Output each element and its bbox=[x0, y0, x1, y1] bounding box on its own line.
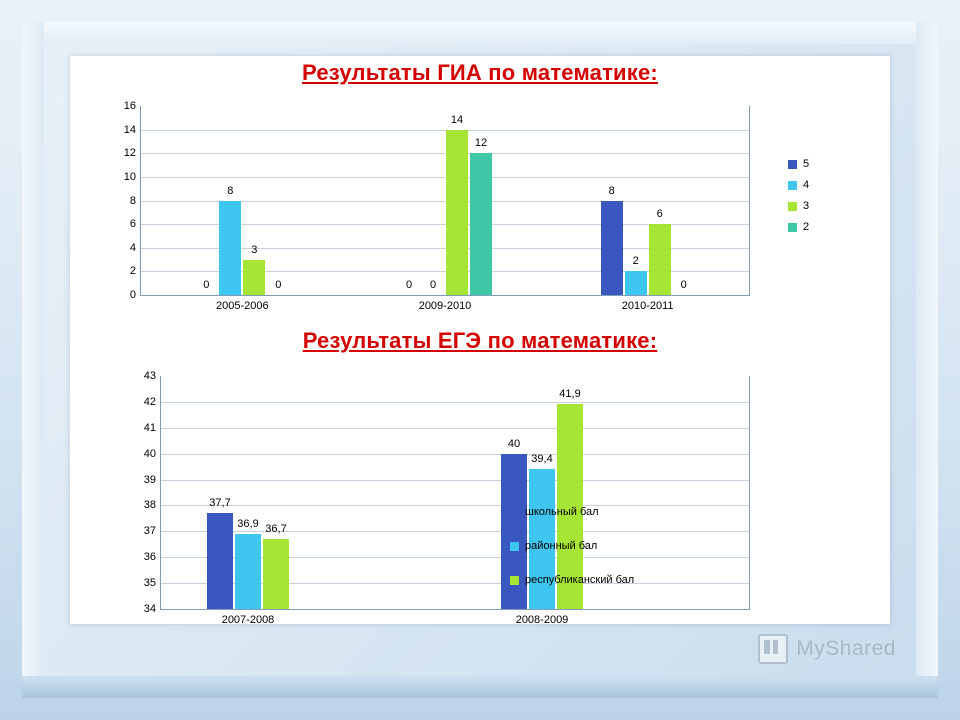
y-axis-tick-label: 16 bbox=[124, 100, 141, 112]
bar-value-label: 12 bbox=[475, 137, 487, 149]
y-axis-tick-label: 2 bbox=[130, 265, 141, 277]
x-axis-category-label: 2010-2011 bbox=[622, 300, 674, 312]
x-axis-category-label: 2005-2006 bbox=[216, 300, 269, 312]
y-axis-tick-label: 37 bbox=[144, 525, 161, 537]
bar-value-label: 2 bbox=[633, 255, 639, 267]
gridline bbox=[161, 531, 749, 532]
bar bbox=[219, 201, 241, 296]
x-axis-category-label: 2007-2008 bbox=[222, 614, 275, 626]
y-axis-tick-label: 36 bbox=[144, 551, 161, 563]
gridline bbox=[161, 505, 749, 506]
gridline bbox=[161, 428, 749, 429]
y-axis-tick-label: 41 bbox=[144, 422, 161, 434]
slide: Результаты ГИА по математике: 0246810121… bbox=[0, 0, 960, 720]
bar bbox=[243, 260, 265, 295]
legend-item: 5 bbox=[788, 158, 809, 170]
y-axis-tick-label: 35 bbox=[144, 577, 161, 589]
bar-value-label: 0 bbox=[406, 279, 412, 291]
bar bbox=[470, 153, 492, 295]
gridline bbox=[161, 480, 749, 481]
bar-value-label: 40 bbox=[508, 438, 520, 450]
chart2-plot-area: 3435363738394041424337,736,936,72007-200… bbox=[160, 376, 750, 610]
legend-swatch bbox=[510, 508, 519, 517]
y-axis-tick-label: 12 bbox=[124, 147, 141, 159]
frame-band-top bbox=[22, 22, 938, 44]
y-axis-tick-label: 43 bbox=[144, 370, 161, 382]
y-axis-tick-label: 42 bbox=[144, 396, 161, 408]
legend-label: 3 bbox=[803, 200, 809, 212]
chart-ege: 3435363738394041424337,736,936,72007-200… bbox=[70, 366, 934, 656]
legend-label: школьный бал bbox=[525, 506, 599, 518]
bar-value-label: 14 bbox=[451, 114, 463, 126]
bar-value-label: 0 bbox=[681, 279, 687, 291]
bar bbox=[601, 201, 623, 296]
book-icon bbox=[758, 634, 788, 664]
x-axis-category-label: 2009-2010 bbox=[419, 300, 472, 312]
legend-swatch bbox=[510, 542, 519, 551]
gridline bbox=[161, 454, 749, 455]
legend-label: районный бал bbox=[525, 540, 597, 552]
watermark-text: MyShared bbox=[796, 637, 896, 661]
y-axis-tick-label: 40 bbox=[144, 448, 161, 460]
bar-value-label: 3 bbox=[251, 244, 257, 256]
chart1-plot-area: 024681012141608302005-20060014122009-201… bbox=[140, 106, 750, 296]
legend-swatch bbox=[510, 576, 519, 585]
bar bbox=[446, 130, 468, 295]
bar bbox=[207, 513, 233, 609]
chart-gia: 024681012141608302005-20060014122009-201… bbox=[70, 96, 934, 326]
legend-label: 2 bbox=[803, 221, 809, 233]
legend-label: республиканский бал bbox=[525, 574, 634, 586]
chart1-legend: 5432 bbox=[788, 158, 809, 242]
legend-swatch bbox=[788, 181, 797, 190]
bar bbox=[625, 271, 647, 295]
chart1-title: Результаты ГИА по математике: bbox=[70, 56, 890, 86]
bar-value-label: 0 bbox=[275, 279, 281, 291]
y-axis-tick-label: 39 bbox=[144, 474, 161, 486]
y-axis-tick-label: 0 bbox=[130, 289, 141, 301]
slide-content-panel: Результаты ГИА по математике: 0246810121… bbox=[70, 56, 890, 624]
chart2-legend: школьный балрайонный балреспубликанский … bbox=[510, 506, 634, 608]
legend-swatch bbox=[788, 160, 797, 169]
y-axis-tick-label: 4 bbox=[130, 242, 141, 254]
bar-value-label: 39,4 bbox=[531, 453, 552, 465]
bar bbox=[649, 224, 671, 295]
bar-value-label: 6 bbox=[657, 208, 663, 220]
legend-label: 5 bbox=[803, 158, 809, 170]
frame-band-bottom bbox=[22, 676, 938, 698]
watermark: MyShared bbox=[758, 634, 896, 664]
y-axis-tick-label: 8 bbox=[130, 195, 141, 207]
bar-value-label: 37,7 bbox=[209, 497, 230, 509]
bar-value-label: 0 bbox=[203, 279, 209, 291]
y-axis-tick-label: 34 bbox=[144, 603, 161, 615]
gridline bbox=[141, 177, 749, 178]
bar-value-label: 41,9 bbox=[559, 388, 580, 400]
bar bbox=[263, 539, 289, 609]
y-axis-tick-label: 10 bbox=[124, 171, 141, 183]
gridline bbox=[161, 402, 749, 403]
legend-item: 3 bbox=[788, 200, 809, 212]
legend-item: республиканский бал bbox=[510, 574, 634, 586]
legend-label: 4 bbox=[803, 179, 809, 191]
legend-item: районный бал bbox=[510, 540, 634, 552]
bar-value-label: 0 bbox=[430, 279, 436, 291]
frame-band-left bbox=[22, 22, 44, 698]
legend-item: 4 bbox=[788, 179, 809, 191]
gridline bbox=[141, 153, 749, 154]
y-axis-tick-label: 38 bbox=[144, 499, 161, 511]
y-axis-tick-label: 6 bbox=[130, 218, 141, 230]
bar-value-label: 36,7 bbox=[265, 523, 286, 535]
slide-frame-outer: Результаты ГИА по математике: 0246810121… bbox=[22, 22, 938, 698]
bar-value-label: 8 bbox=[609, 185, 615, 197]
bar bbox=[235, 534, 261, 609]
legend-swatch bbox=[788, 223, 797, 232]
gridline bbox=[141, 130, 749, 131]
legend-swatch bbox=[788, 202, 797, 211]
x-axis-category-label: 2008-2009 bbox=[516, 614, 569, 626]
bar-value-label: 8 bbox=[227, 185, 233, 197]
legend-item: школьный бал bbox=[510, 506, 634, 518]
y-axis-tick-label: 14 bbox=[124, 124, 141, 136]
bar-value-label: 36,9 bbox=[237, 518, 258, 530]
legend-item: 2 bbox=[788, 221, 809, 233]
chart2-title: Результаты ЕГЭ по математике: bbox=[70, 328, 890, 354]
